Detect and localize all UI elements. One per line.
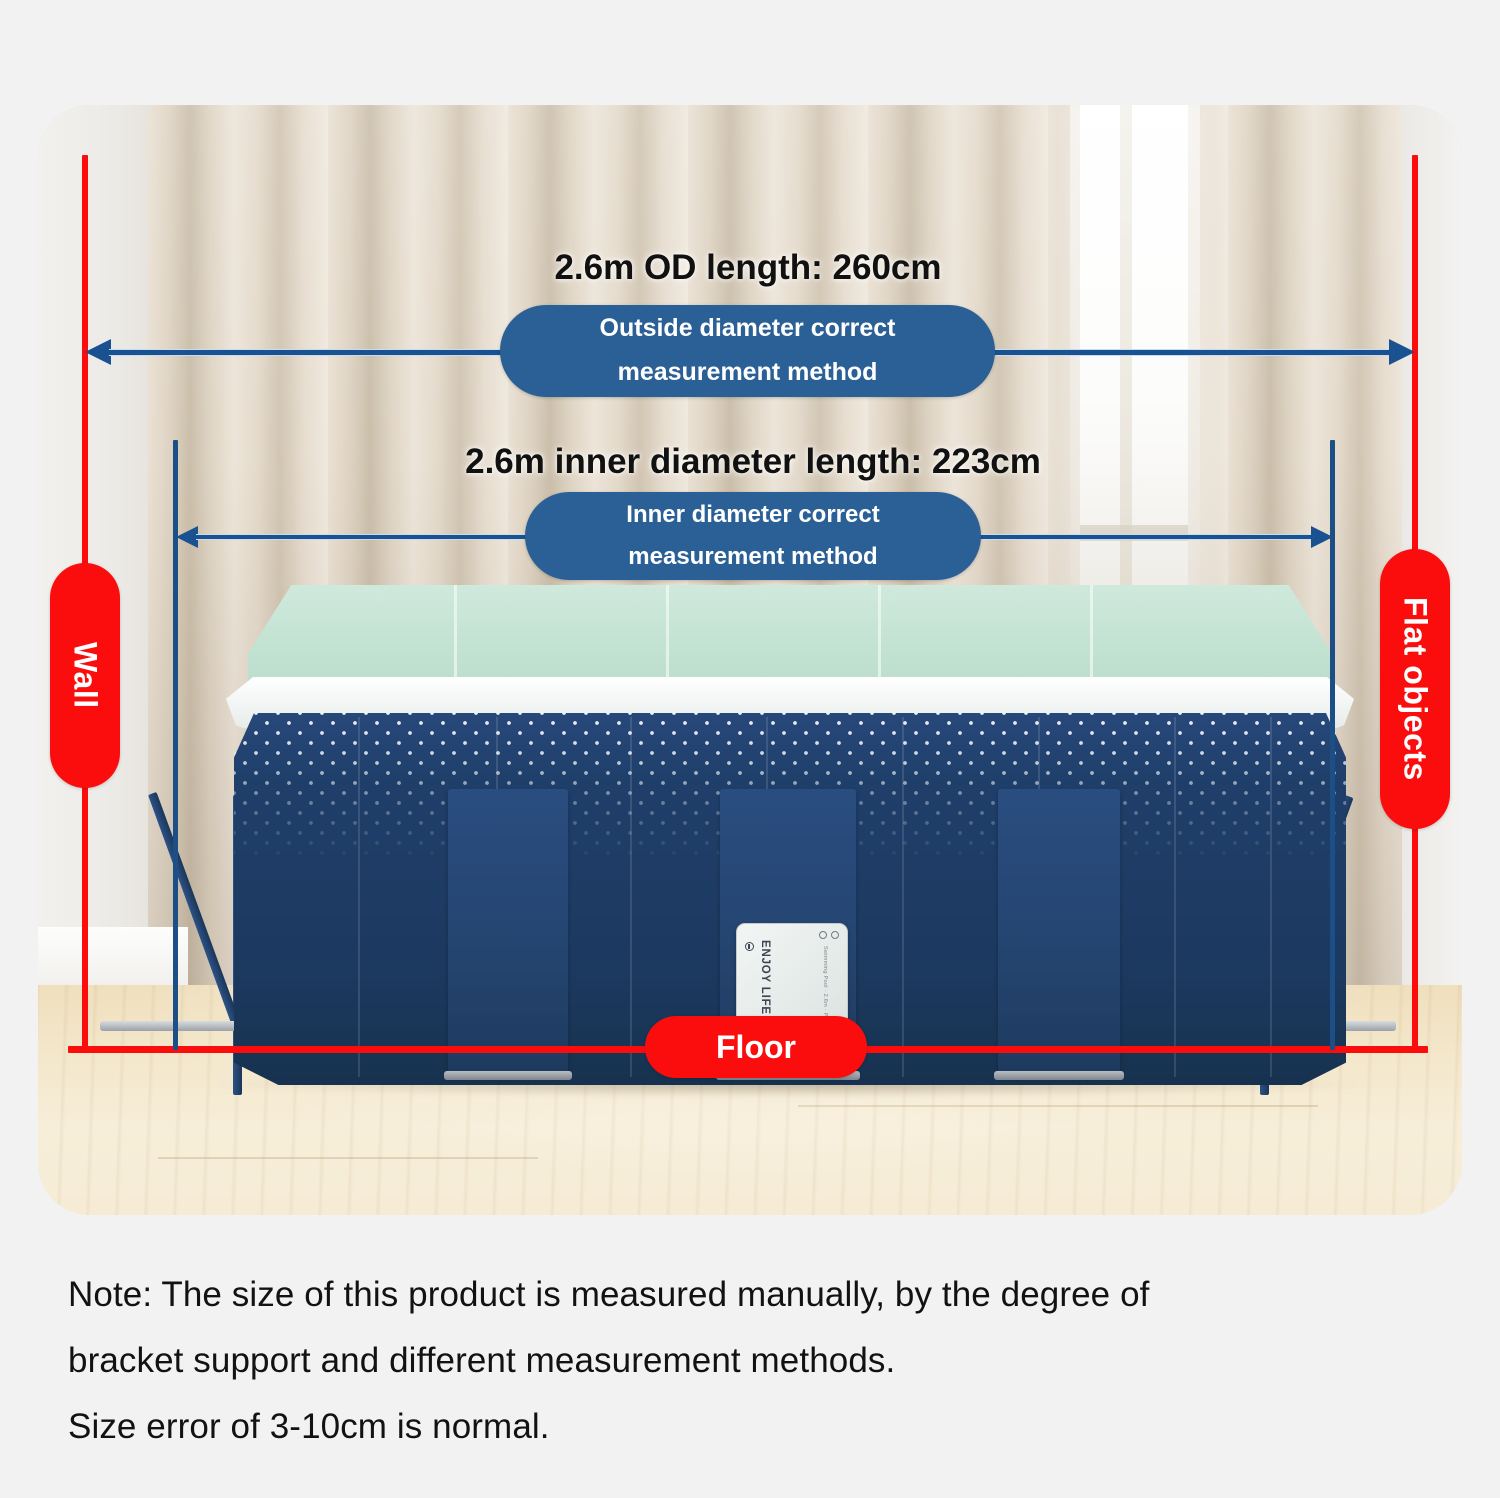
inner-dimension-text: 2.6m inner diameter length: 223cm [173,442,1333,482]
outer-callout-line1: Outside diameter correct [600,307,896,351]
wall-marker: Wall [50,563,120,788]
floor-marker: Floor [645,1016,867,1078]
outer-dimension-text: 2.6m OD length: 260cm [82,248,1414,288]
note-line-3: Size error of 3-10cm is normal. [68,1394,1448,1460]
tag-care-icons [819,931,839,939]
infographic-page: ENJOY LIFE Swimming Pool · 2.6m · PVC Po… [0,0,1500,1498]
brand-mark-icon [745,942,754,951]
inner-callout-line1: Inner diameter correct [626,494,879,536]
brand-name: ENJOY LIFE [759,940,771,1015]
note-line-2: bracket support and different measuremen… [68,1328,1448,1394]
inner-callout-line2: measurement method [628,536,877,578]
flat-objects-marker-label: Flat objects [1397,597,1434,781]
pool-panel-flap [448,789,568,1075]
note-line-1: Note: The size of this product is measur… [68,1262,1448,1328]
outer-method-callout: Outside diameter correct measurement met… [500,305,995,397]
disclaimer-note: Note: The size of this product is measur… [68,1262,1448,1460]
pool-panel-flap [998,789,1120,1075]
floor-marker-label: Floor [716,1029,796,1066]
wall-marker-label: Wall [67,642,104,709]
inner-method-callout: Inner diameter correct measurement metho… [525,492,981,580]
flat-objects-marker: Flat objects [1380,549,1450,829]
outer-callout-line2: measurement method [618,351,878,395]
